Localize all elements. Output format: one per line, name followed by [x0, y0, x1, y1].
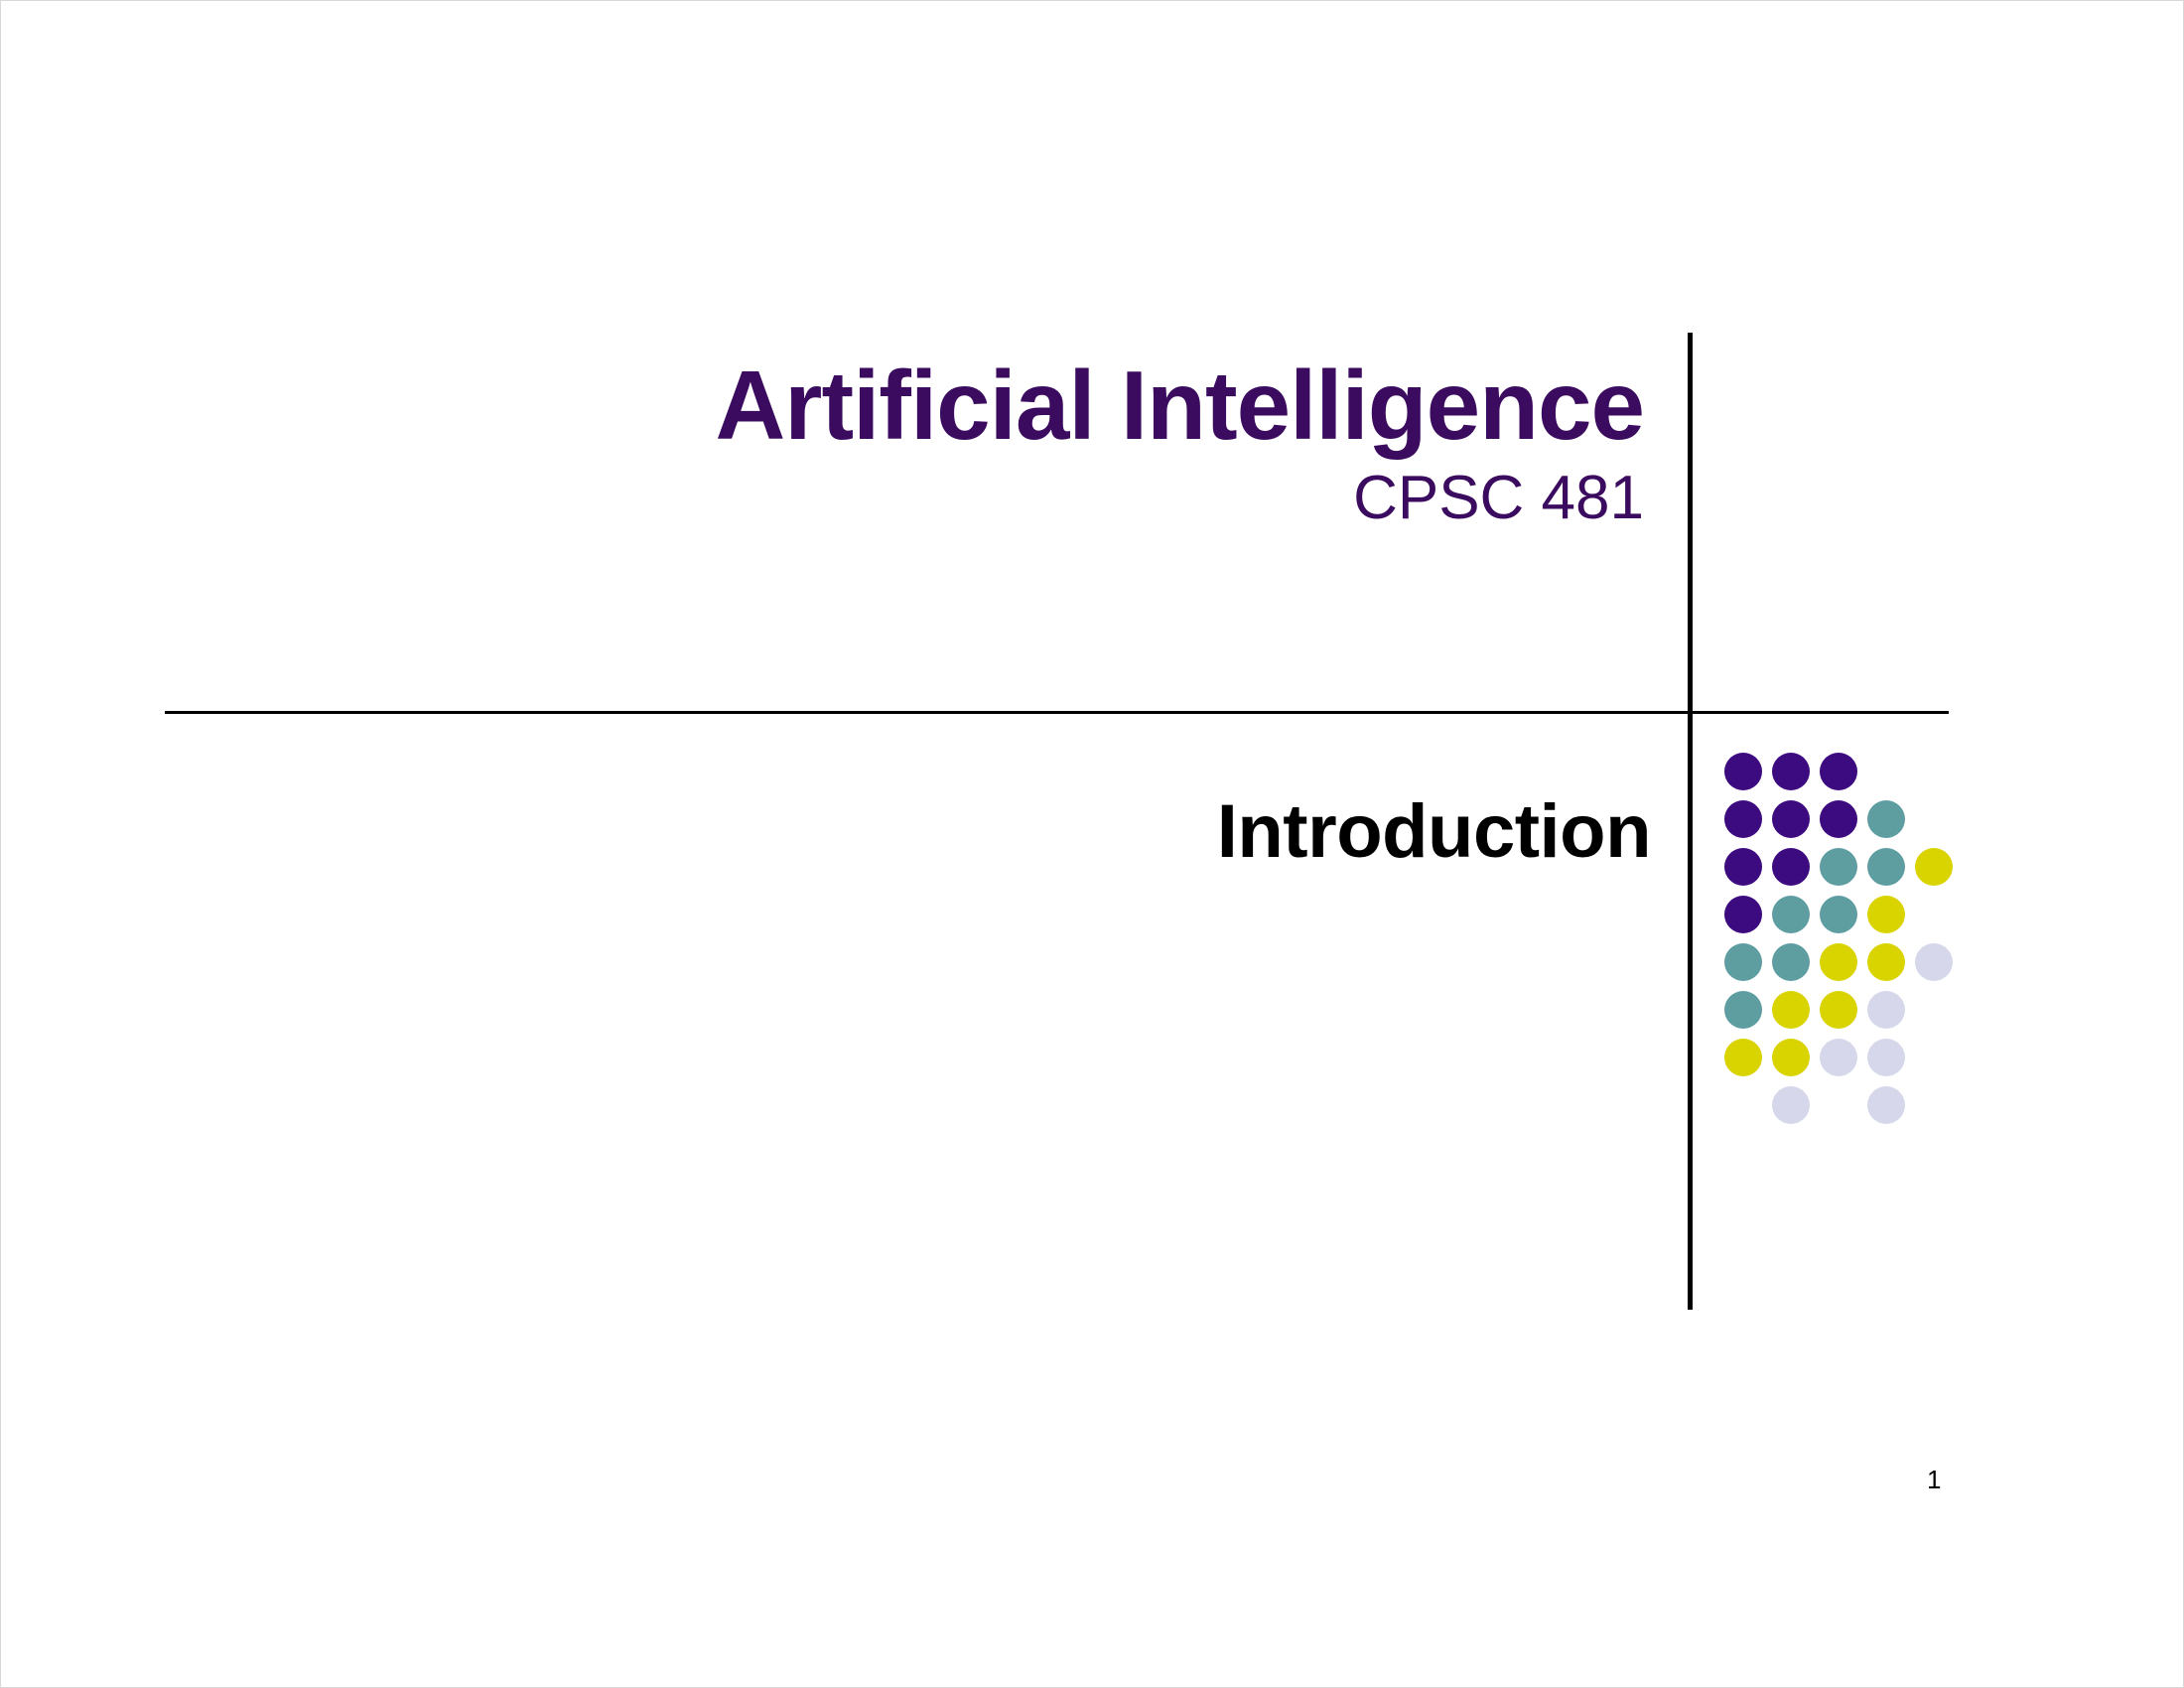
- page-title: Artificial Intelligence: [299, 353, 1644, 459]
- vertical-divider-rule: [1688, 333, 1693, 1310]
- decoration-dot: [1724, 943, 1762, 981]
- decoration-dot: [1820, 753, 1857, 790]
- decoration-dot: [1772, 991, 1810, 1029]
- decoration-dot: [1772, 753, 1810, 790]
- decoration-dot: [1820, 848, 1857, 886]
- decoration-dot: [1772, 800, 1810, 838]
- page-number: 1: [1927, 1465, 1986, 1495]
- horizontal-divider-rule: [165, 711, 1949, 714]
- decoration-dot: [1724, 896, 1762, 933]
- decoration-dot: [1867, 991, 1905, 1029]
- decoration-dot: [1820, 896, 1857, 933]
- decoration-dot: [1724, 991, 1762, 1029]
- decoration-dot: [1820, 991, 1857, 1029]
- decoration-dot: [1772, 943, 1810, 981]
- decoration-dot: [1867, 800, 1905, 838]
- slide-subtitle: Introduction: [398, 790, 1651, 874]
- decoration-dot: [1724, 800, 1762, 838]
- decoration-dot: [1772, 1086, 1810, 1124]
- title-block: Artificial Intelligence CPSC 481: [299, 353, 1644, 532]
- decoration-dot: [1867, 943, 1905, 981]
- decoration-dot: [1867, 1039, 1905, 1076]
- dot-grid-decoration: [1724, 753, 2022, 1249]
- decoration-dot: [1820, 943, 1857, 981]
- decoration-dot: [1820, 800, 1857, 838]
- slide-canvas: Artificial Intelligence CPSC 481 Introdu…: [0, 0, 2184, 1688]
- decoration-dot: [1867, 1086, 1905, 1124]
- course-code-label: CPSC 481: [299, 465, 1644, 532]
- decoration-dot: [1820, 1039, 1857, 1076]
- decoration-dot: [1915, 848, 1953, 886]
- decoration-dot: [1867, 848, 1905, 886]
- decoration-dot: [1724, 1039, 1762, 1076]
- decoration-dot: [1867, 896, 1905, 933]
- decoration-dot: [1772, 1039, 1810, 1076]
- decoration-dot: [1915, 943, 1953, 981]
- subtitle-block: Introduction: [398, 790, 1651, 874]
- decoration-dot: [1772, 896, 1810, 933]
- decoration-dot: [1772, 848, 1810, 886]
- decoration-dot: [1724, 753, 1762, 790]
- decoration-dot: [1724, 848, 1762, 886]
